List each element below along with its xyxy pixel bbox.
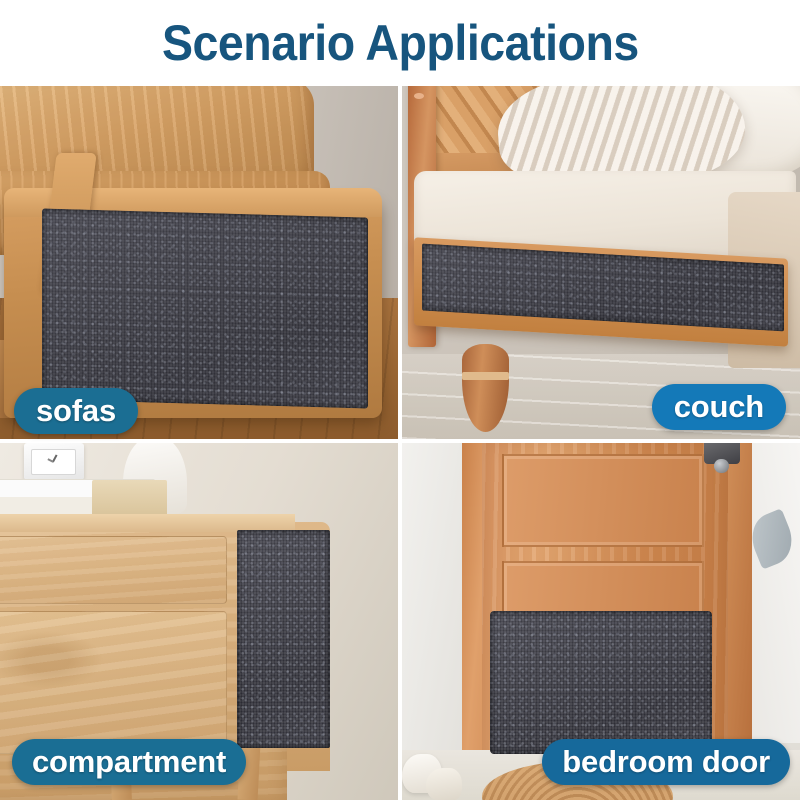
label-badge-sofas[interactable]: sofas (14, 388, 138, 434)
carpet-scratcher-mat (42, 209, 368, 409)
carpet-scratcher-mat (237, 530, 331, 748)
wall-left (402, 443, 466, 800)
label-badge-compartment[interactable]: compartment (12, 739, 246, 785)
label-badge-couch[interactable]: couch (652, 384, 786, 430)
scenario-photo-grid (0, 86, 800, 800)
nightstand-drawer-lower (0, 611, 227, 754)
clock-face (31, 449, 76, 475)
label-badge-bedroom-door[interactable]: bedroom door (542, 739, 790, 785)
carpet-scratcher-mat (490, 611, 713, 754)
book-beige (92, 480, 168, 516)
title-bar: Scenario Applications (0, 0, 800, 86)
alarm-clock (24, 443, 84, 480)
shoe-right (426, 768, 462, 800)
page-title: Scenario Applications (162, 14, 639, 72)
scenario-photo-sofas[interactable] (0, 86, 398, 439)
bed-leg-ring (462, 372, 510, 380)
door-lock-icon (714, 459, 728, 473)
nightstand-drawer-upper (0, 536, 227, 604)
product-scenario-poster: Scenario Applications (0, 0, 800, 800)
door-panel-upper (502, 454, 705, 547)
bed-post-screw (414, 93, 424, 99)
